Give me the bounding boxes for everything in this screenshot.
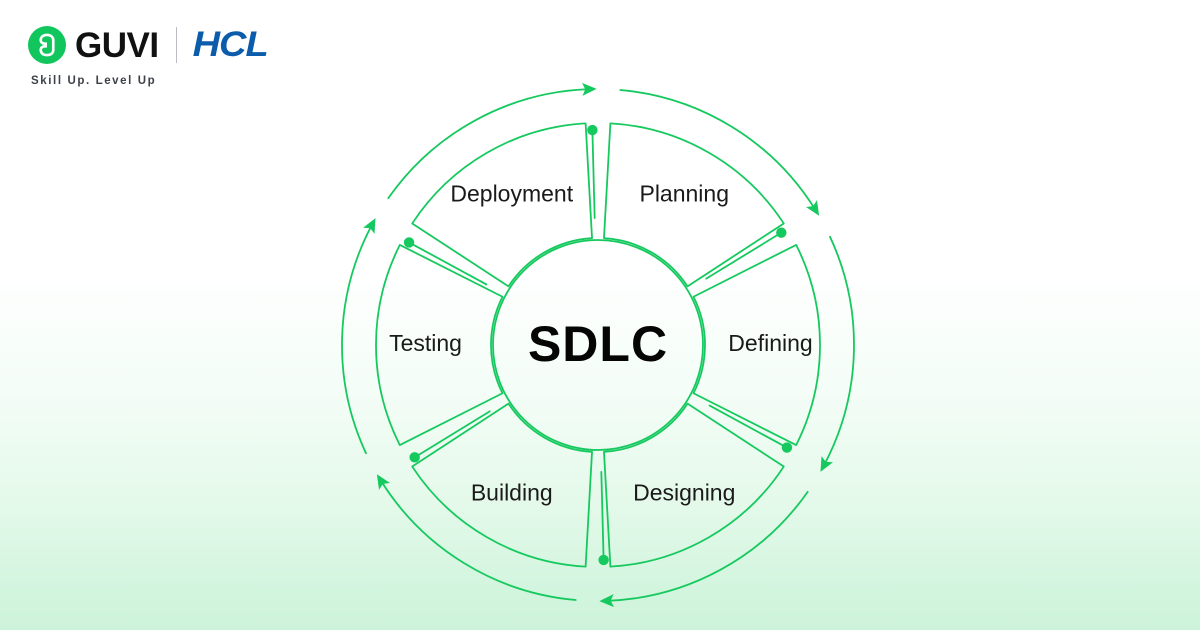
flow-arrow-defining (824, 237, 854, 465)
sdlc-infographic-page: GUVI HCL Skill Up. Level Up SDLC Plannin… (0, 0, 1200, 630)
petal-label-planning: Planning (639, 181, 729, 207)
petal-label-deployment: Deployment (450, 181, 573, 207)
petal-label-defining: Defining (728, 330, 812, 356)
connector-dot-testing (409, 452, 419, 462)
flow-arrow-designing (607, 492, 808, 601)
connector-line-building (601, 472, 603, 560)
connector-dot-building (598, 555, 608, 565)
petal-label-testing: Testing (389, 330, 462, 356)
petal-label-building: Building (471, 479, 553, 505)
connector-dot-designing (782, 442, 792, 452)
sdlc-cycle-diagram: SDLC PlanningDefiningDesigningBuildingTe… (0, 0, 1200, 630)
connector-dot-planning (587, 125, 597, 135)
center-label: SDLC (528, 316, 668, 372)
connector-dot-defining (776, 227, 786, 237)
flow-arrow-testing (342, 225, 372, 453)
petal-label-designing: Designing (633, 479, 735, 505)
connector-line-planning (592, 130, 594, 218)
connector-dot-deployment (404, 237, 414, 247)
